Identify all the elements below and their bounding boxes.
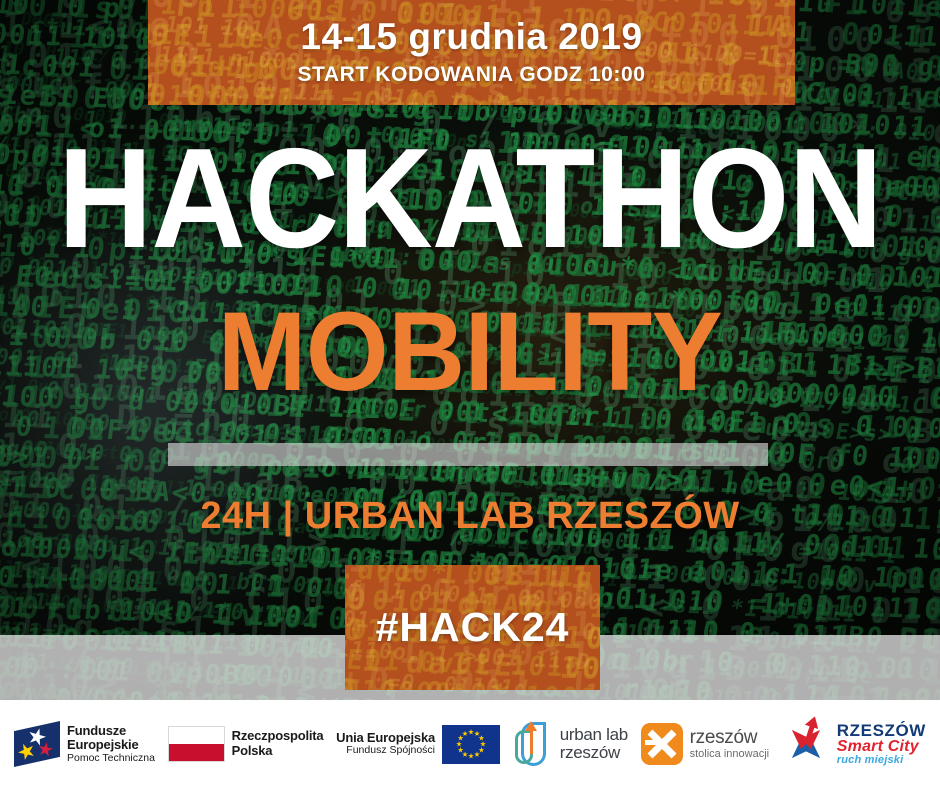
logo-unia-europejska: Unia Europejska Fundusz Spójności (336, 725, 500, 764)
ul-line2: rzeszów (560, 744, 628, 762)
polish-flag-icon (168, 726, 225, 762)
pl-line2: Polska (232, 744, 324, 759)
logo-rzeczpospolita-polska: Rzeczpospolita Polska (168, 726, 324, 762)
sc-line1: RZESZÓW (837, 722, 926, 739)
ul-line1: urban lab (560, 726, 628, 744)
fe-line2: Europejskie (67, 738, 155, 753)
smart-city-arrows-icon (782, 721, 830, 767)
fe-line1: Fundusze (67, 724, 155, 739)
logo-fundusze-europejskie: Fundusze Europejskie Pomoc Techniczna (14, 721, 155, 767)
logo-urban-lab-rzeszow: urban lab rzeszów (513, 720, 628, 768)
divider-bar (168, 443, 768, 466)
fe-line3: Pomoc Techniczna (67, 753, 155, 765)
sc-line3: ruch miejski (837, 755, 926, 766)
urban-lab-icon (513, 720, 553, 768)
hashtag-badge: e1n1 g1r 00;0101100 . =11+ 0 0 00/*111* … (345, 565, 600, 690)
eu-line2: Fundusz Spójności (336, 745, 435, 757)
eu-flag-icon (442, 725, 500, 764)
date-banner: 00 1 1 An = 11 0 1 0f0* 001 10 0 ec 10 1… (148, 0, 795, 105)
eu-line1: Unia Europejska (336, 731, 435, 746)
venue-line: 24H | URBAN LAB RZESZÓW (0, 495, 940, 538)
event-date: 14-15 grudnia 2019 (300, 18, 642, 57)
logo-rzeszow-stolica-innowacji: rzeszów stolica innowacji (641, 723, 769, 765)
sc-line2: Smart City (837, 739, 926, 755)
logo-rzeszow-smart-city: RZESZÓW Smart City ruch miejski (782, 721, 926, 767)
sponsor-logo-bar: Fundusze Europejskie Pomoc Techniczna Rz… (0, 700, 940, 788)
event-start-time: START KODOWANIA GODZ 10:00 (297, 63, 645, 87)
rz-line2: stolica innowacji (690, 748, 769, 760)
hashtag-text: #HACK24 (345, 565, 600, 690)
pl-line1: Rzeczpospolita (232, 729, 324, 744)
rz-line1: rzeszów (690, 727, 769, 748)
rzeszow-pinwheel-icon (641, 723, 683, 765)
hackathon-poster: 1 0 0001f 0 0;011a C 1011 0s0:cF 10 0011… (0, 0, 940, 788)
fundusze-europejskie-icon (14, 721, 60, 767)
